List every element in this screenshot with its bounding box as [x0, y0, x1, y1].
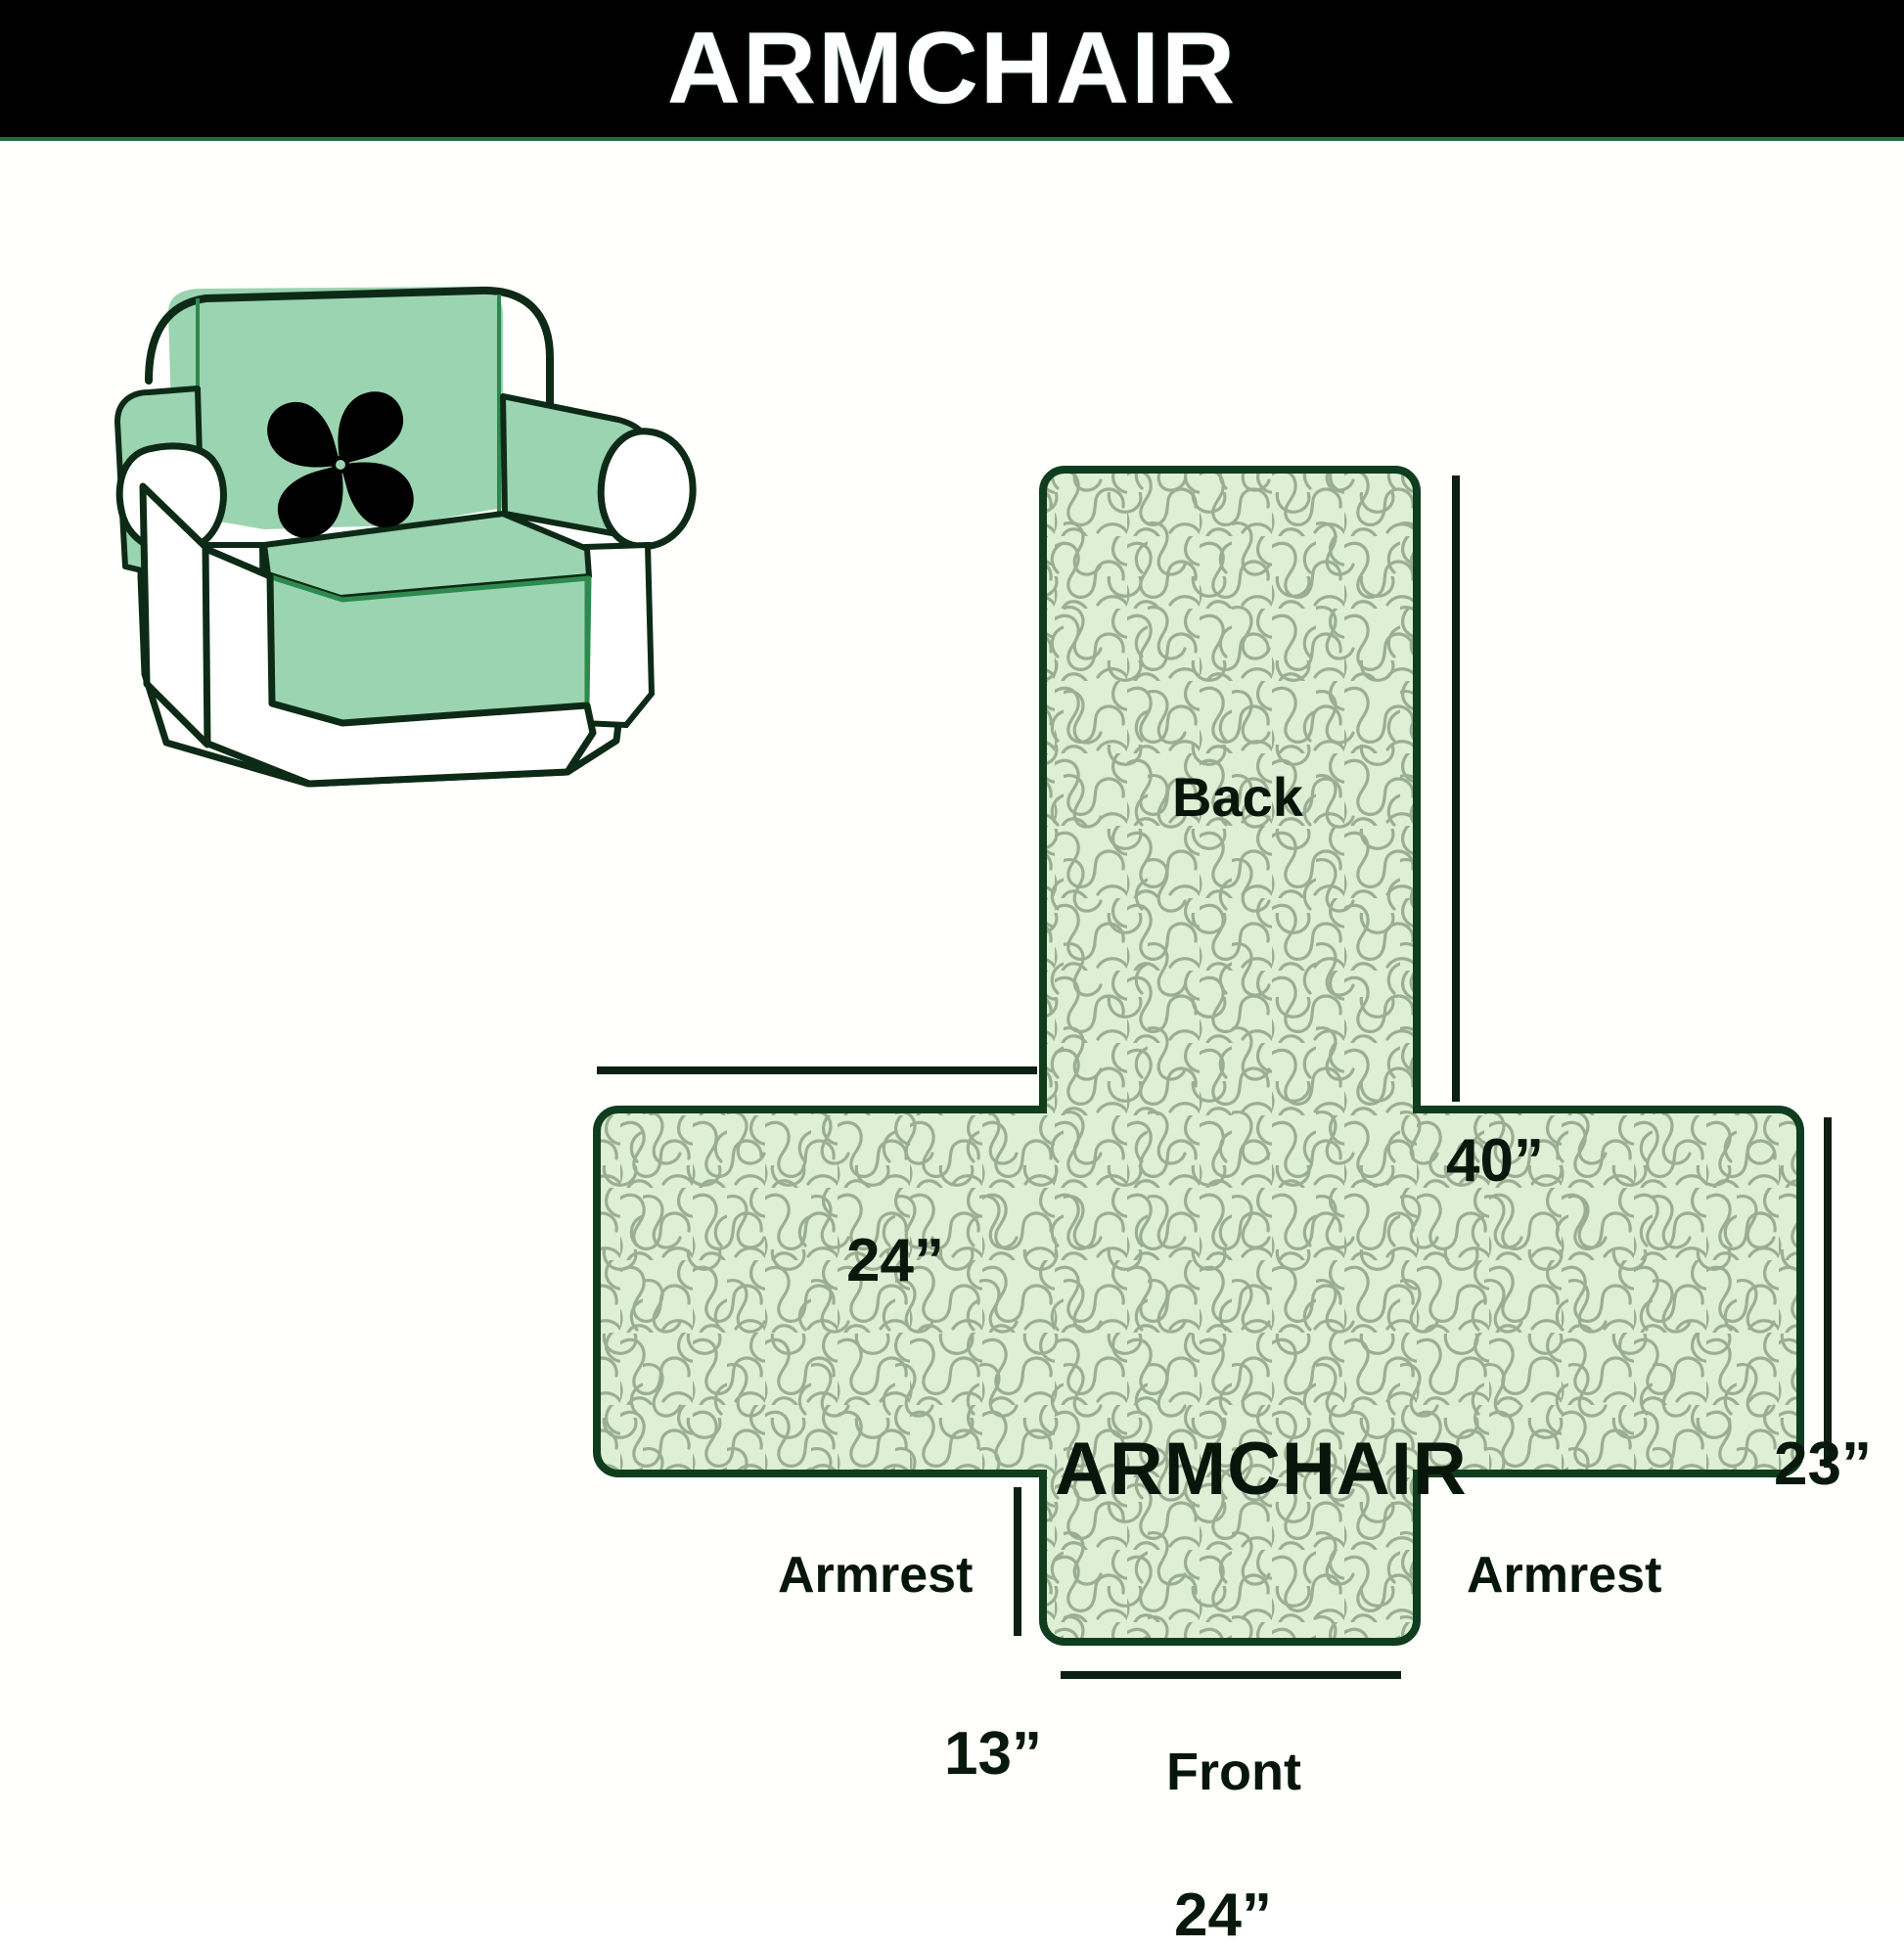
panel-label-armrest-left: Armrest — [778, 1550, 973, 1601]
panel-label-center: ARMCHAIR — [1055, 1432, 1468, 1507]
panel-label-armrest-right: Armrest — [1467, 1550, 1661, 1601]
chair-front-skirt — [268, 576, 589, 723]
cover-shape-fill — [548, 464, 1859, 1765]
dimension-label-arm-top-width: 24” — [846, 1231, 944, 1292]
cover-pattern-diagram — [548, 464, 1859, 1765]
panel-label-front: Front — [1166, 1745, 1301, 1798]
panel-label-back: Back — [1172, 770, 1303, 825]
dimension-label-front-width: 24” — [1174, 1885, 1272, 1946]
header-bar: ARMCHAIR — [0, 0, 1904, 137]
page-title: ARMCHAIR — [667, 18, 1237, 119]
dimension-label-back-height: 40” — [1446, 1131, 1544, 1192]
dimension-label-center-height: 23” — [1774, 1434, 1872, 1495]
diagram-canvas: Back ARMCHAIR Armrest Armrest Front 40” … — [0, 141, 1904, 1904]
dimension-label-front-height: 13” — [944, 1724, 1042, 1785]
